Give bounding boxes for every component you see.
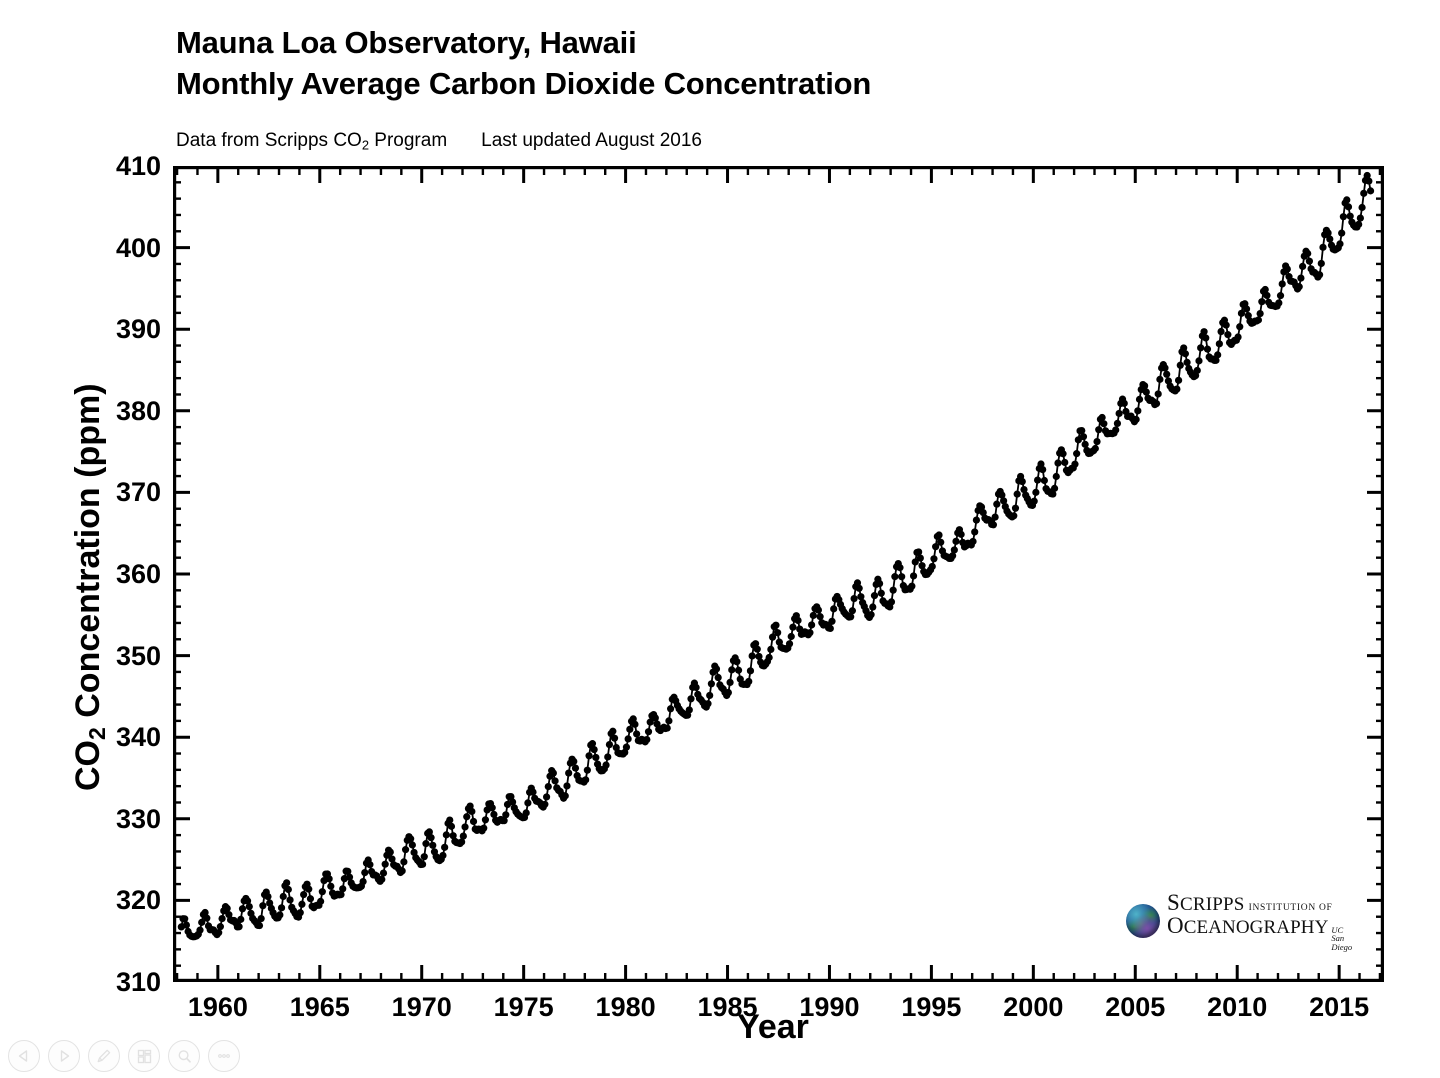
triangle-right-icon [56, 1048, 72, 1064]
chart-title: Mauna Loa Observatory, Hawaii Monthly Av… [176, 22, 871, 104]
subtitle-source-subscript: 2 [362, 138, 369, 153]
y-tick-label: 390 [41, 316, 161, 343]
data-series [178, 172, 1374, 941]
scripps-logo: SCRIPPS INSTITUTION OF OCEANOGRAPHY UC S… [1126, 898, 1348, 944]
y-tick-label: 330 [41, 806, 161, 833]
subtitle-updated-text: Last updated August 2016 [481, 130, 702, 151]
globe-icon [1126, 904, 1160, 938]
previous-button[interactable] [8, 1040, 40, 1072]
y-axis-label-post: Concentration (ppm) [69, 383, 107, 727]
ellipsis-icon [215, 1047, 233, 1065]
triangle-left-icon [16, 1048, 32, 1064]
subtitle-source-text: Data from Scripps CO [176, 130, 362, 151]
logo-oceanography-word: OCEANOGRAPHY [1167, 914, 1328, 937]
y-tick-label: 340 [41, 724, 161, 751]
logo-institution-text: INSTITUTION OF [1249, 904, 1333, 914]
more-button[interactable] [208, 1040, 240, 1072]
y-tick-label: 400 [41, 235, 161, 262]
y-tick-label: 380 [41, 398, 161, 425]
chart-title-line-2: Monthly Average Carbon Dioxide Concentra… [176, 63, 871, 104]
y-tick-label: 360 [41, 561, 161, 588]
subtitle-source-tail: Program [369, 130, 447, 151]
y-tick-label: 320 [41, 887, 161, 914]
scripps-logo-text: SCRIPPS INSTITUTION OF OCEANOGRAPHY UC S… [1167, 891, 1352, 952]
keeling-curve-plot [173, 166, 1384, 982]
logo-campus-text: UC San Diego [1331, 926, 1352, 952]
y-tick-label: 350 [41, 643, 161, 670]
y-tick-label: 370 [41, 479, 161, 506]
y-tick-label: 310 [41, 969, 161, 996]
annotate-button[interactable] [88, 1040, 120, 1072]
x-tick-label: 2015 [1279, 994, 1399, 1021]
layout-button[interactable] [128, 1040, 160, 1072]
y-tick-label: 410 [41, 153, 161, 180]
plot-area: 3103203303403503603703803904004101960196… [173, 166, 1384, 982]
grid-layout-icon [136, 1048, 153, 1065]
magnifier-icon [176, 1048, 193, 1065]
next-button[interactable] [48, 1040, 80, 1072]
slide-page: Mauna Loa Observatory, Hawaii Monthly Av… [0, 0, 1440, 1078]
presentation-toolbar[interactable] [8, 1040, 240, 1072]
chart-title-line-1: Mauna Loa Observatory, Hawaii [176, 22, 871, 63]
zoom-button[interactable] [168, 1040, 200, 1072]
pencil-icon [95, 1047, 113, 1065]
chart-subtitle: Data from Scripps CO2 ProgramLast update… [176, 130, 702, 153]
logo-scripps-word: SCRIPPS [1167, 891, 1245, 914]
